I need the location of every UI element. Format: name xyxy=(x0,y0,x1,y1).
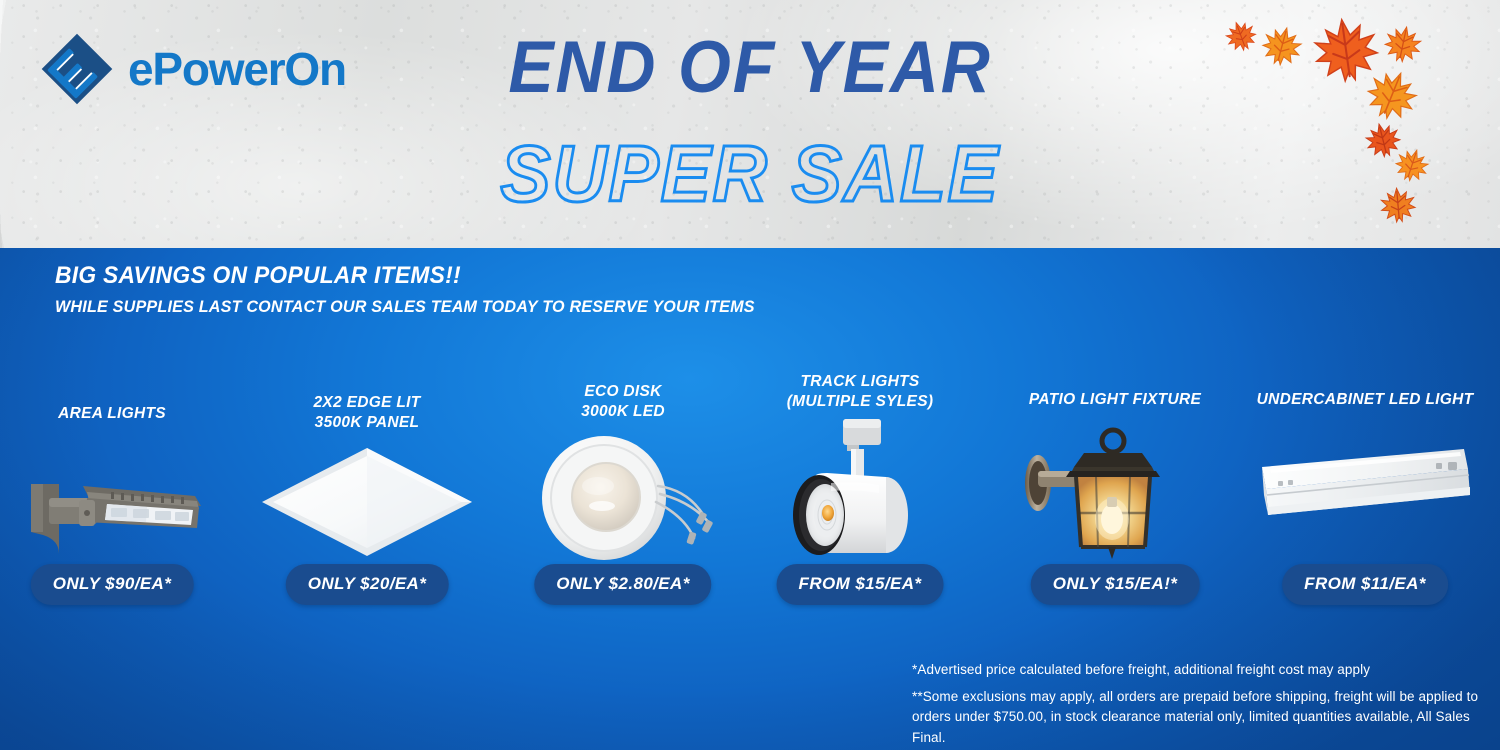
promotional-banner: ePowerOn END OF YEAR SUPER SALE xyxy=(0,0,1500,750)
hero-section: ePowerOn END OF YEAR SUPER SALE xyxy=(0,0,1500,248)
product-label: PATIO LIGHT FIXTURE xyxy=(990,390,1240,410)
product-price-pill[interactable]: ONLY $2.80/EA* xyxy=(534,564,711,605)
headline-end-of-year: END OF YEAR xyxy=(53,26,1448,109)
product-label-line1: 2X2 EDGE LIT xyxy=(314,394,421,411)
headline-super-sale: SUPER SALE xyxy=(45,128,1455,220)
product-label: AREA LIGHTS xyxy=(0,404,237,424)
disclaimer-exclusions: **Some exclusions may apply, all orders … xyxy=(912,687,1482,748)
product-price-pill[interactable]: ONLY $90/EA* xyxy=(31,564,194,605)
product-label: TRACK LIGHTS (MULTIPLE SYLES) xyxy=(735,372,985,413)
product-label-line1: ECO DISK xyxy=(584,383,661,400)
patio-lantern-icon xyxy=(990,423,1240,568)
product-label: ECO DISK 3000K LED xyxy=(498,382,748,423)
product-label-line2: (MULTIPLE SYLES) xyxy=(787,393,934,410)
product-label-line2: 3000K LED xyxy=(581,403,665,420)
product-label: UNDERCABINET LED LIGHT xyxy=(1240,390,1490,410)
product-price-pill[interactable]: ONLY $15/EA!* xyxy=(1031,564,1200,605)
disk-light-icon xyxy=(498,428,748,568)
undercabinet-bar-light-icon xyxy=(1240,433,1490,568)
flat-panel-light-icon xyxy=(242,436,492,576)
track-light-head-icon xyxy=(735,413,985,563)
product-price-pill[interactable]: FROM $15/EA* xyxy=(777,564,944,605)
product-label-line2: 3500K PANEL xyxy=(315,414,420,431)
area-light-fixture-icon xyxy=(0,436,237,576)
product-price-pill[interactable]: ONLY $20/EA* xyxy=(286,564,449,605)
product-price-pill[interactable]: FROM $11/EA* xyxy=(1282,564,1448,605)
product-label-line1: TRACK LIGHTS xyxy=(801,373,920,390)
product-label: 2X2 EDGE LIT 3500K PANEL xyxy=(242,393,492,434)
disclaimer-freight: *Advertised price calculated before frei… xyxy=(912,660,1472,680)
